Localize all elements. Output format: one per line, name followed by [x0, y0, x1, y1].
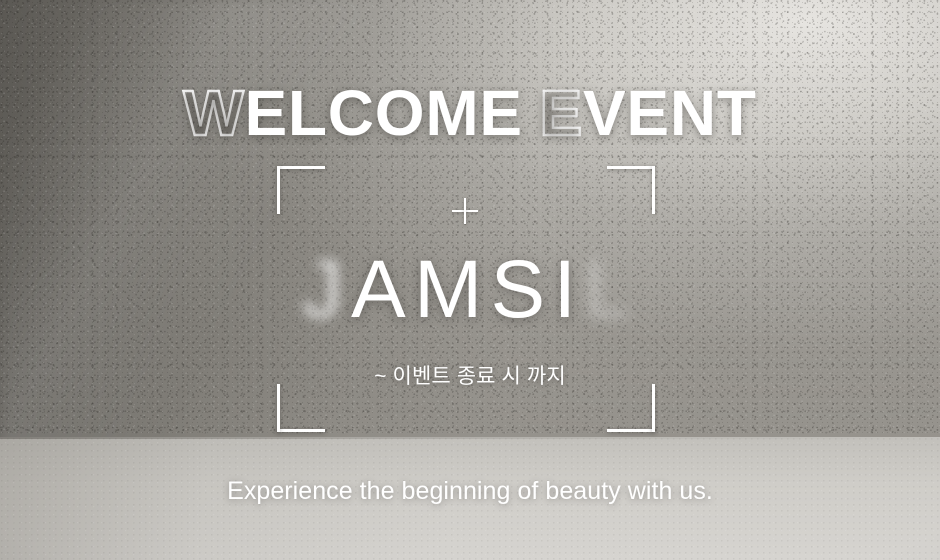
headline-word2-initial: E [539, 77, 582, 149]
bracket-top-right-icon [607, 166, 655, 214]
headline-word2-rest: VENT [583, 77, 757, 149]
headline-word1-initial: W [183, 77, 244, 149]
wordmark-letter-m: M [414, 249, 491, 331]
headline: WELCOMEEVENT [0, 81, 940, 145]
wordmark-letter-a: A [351, 249, 414, 331]
wordmark-letter-j: J [302, 249, 351, 331]
headline-word1-rest: ELCOME [244, 77, 522, 149]
welcome-event-banner: WELCOMEEVENT J A M S I L ~ 이벤트 종료 시 까지 E… [0, 0, 940, 560]
banner-content: WELCOMEEVENT J A M S I L ~ 이벤트 종료 시 까지 E… [0, 0, 940, 560]
wordmark-letter-l: L [584, 249, 638, 331]
bracket-bottom-right-icon [607, 384, 655, 432]
wordmark-letter-s: S [490, 249, 553, 331]
wordmark-letter-i: I [553, 249, 584, 331]
bracket-top-left-icon [277, 166, 325, 214]
plus-icon [452, 198, 478, 224]
bracket-bottom-left-icon [277, 384, 325, 432]
jamsil-wordmark: J A M S I L [0, 240, 940, 340]
tagline: Experience the beginning of beauty with … [0, 477, 940, 506]
event-period-note: ~ 이벤트 종료 시 까지 [0, 360, 940, 390]
